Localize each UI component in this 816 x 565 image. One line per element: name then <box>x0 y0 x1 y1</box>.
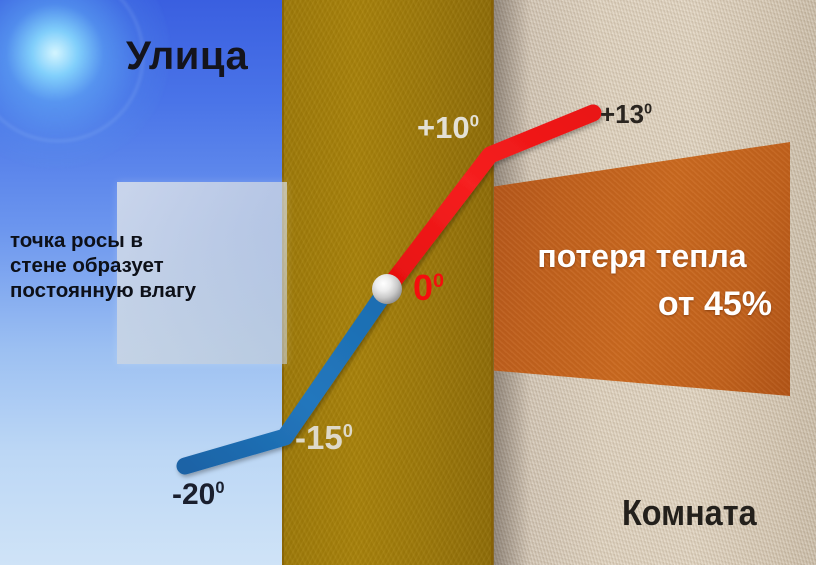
heat-loss-line-2: от 45% <box>506 285 778 324</box>
temperature-label-plus-10: +100 <box>417 110 479 146</box>
degree-symbol: 0 <box>343 421 353 441</box>
dew-point-note-text: точка росы в стене образует постоянную в… <box>10 228 196 303</box>
temperature-label-plus-13: +130 <box>600 99 652 130</box>
temperature-value: 0 <box>413 267 433 308</box>
temperature-value: +10 <box>417 110 470 145</box>
degree-symbol: 0 <box>470 112 479 131</box>
temperature-label-minus-15: -150 <box>295 419 353 457</box>
heat-loss-text-group: потеря тепла от 45% <box>506 238 778 324</box>
cold-temperature-line <box>185 288 388 466</box>
dew-point-node-marker <box>372 274 402 304</box>
outdoor-zone-label: Улица <box>126 34 248 79</box>
heat-loss-line-1: потеря тепла <box>506 238 778 275</box>
temperature-value: -15 <box>295 419 343 456</box>
degree-symbol: 0 <box>644 101 652 117</box>
thermal-diagram-canvas: Улица Комната точка росы в стене образуе… <box>0 0 816 565</box>
temperature-label-minus-20: -200 <box>172 478 225 512</box>
temperature-value: +13 <box>600 99 644 129</box>
degree-symbol: 0 <box>433 270 444 292</box>
indoor-zone-label: Комната <box>622 492 757 534</box>
temperature-label-zero: 00 <box>413 267 444 309</box>
degree-symbol: 0 <box>215 479 224 497</box>
temperature-value: -20 <box>172 478 215 511</box>
